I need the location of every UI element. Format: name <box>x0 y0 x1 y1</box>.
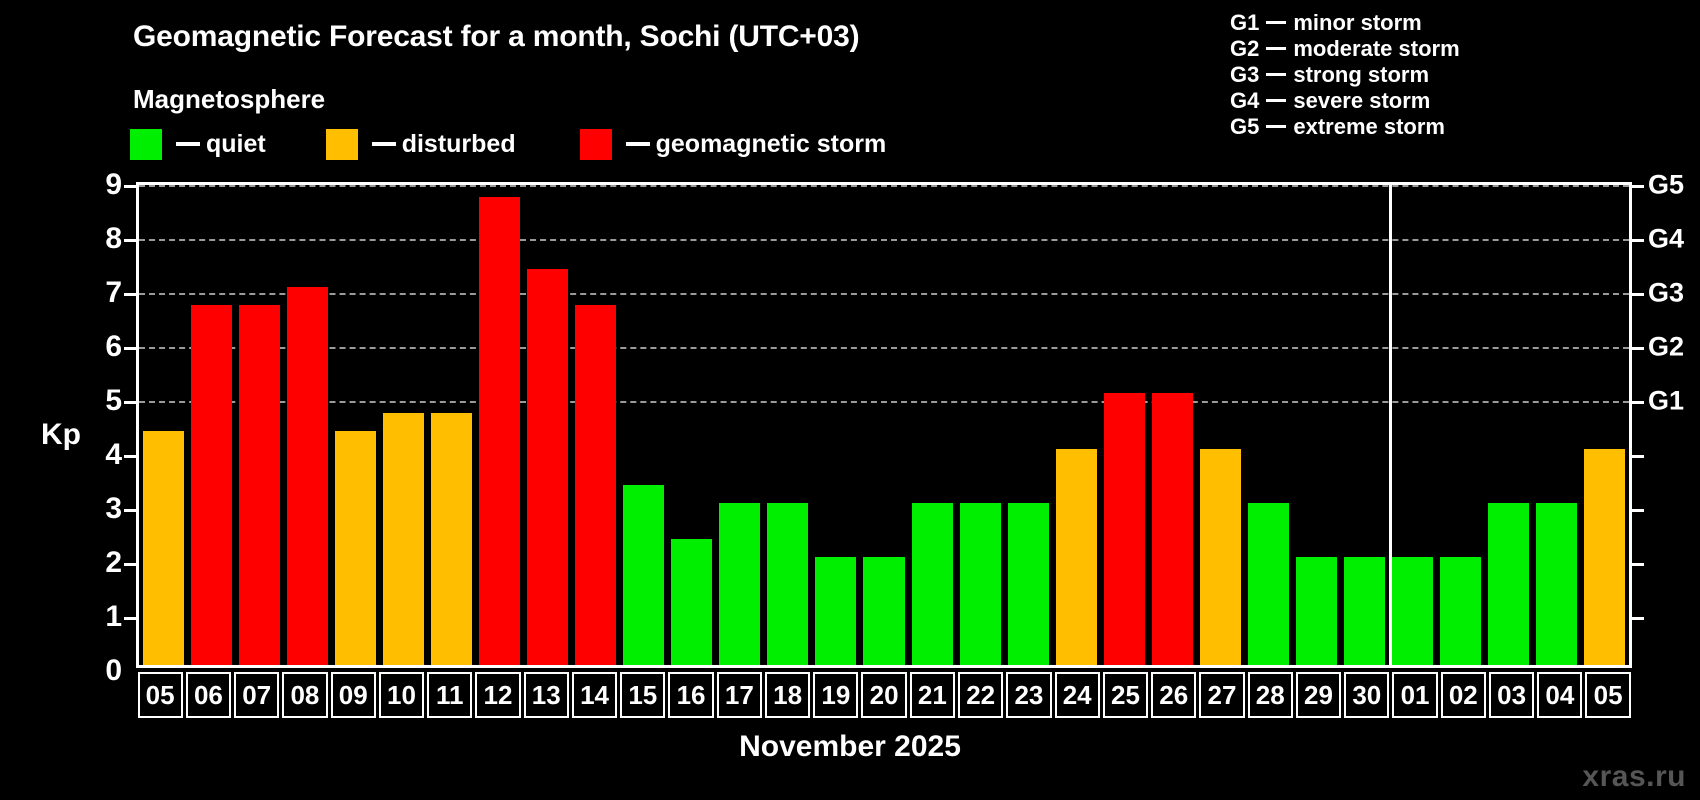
y-tick-label: 7 <box>82 276 122 310</box>
g-tick-label: G1 <box>1648 386 1684 417</box>
y-tick-mark <box>124 509 136 512</box>
bar-cell[interactable] <box>1533 185 1581 665</box>
bar-storm[interactable] <box>191 305 232 665</box>
y-tick-mark <box>124 563 136 566</box>
watermark: xras.ru <box>1582 760 1686 794</box>
bar-cell[interactable] <box>1004 185 1052 665</box>
bar-cell[interactable] <box>1196 185 1244 665</box>
bar-cell[interactable] <box>668 185 716 665</box>
g-minor-tick-mark <box>1632 563 1644 566</box>
g-tick-label: G3 <box>1648 278 1684 309</box>
y-tick-mark <box>124 401 136 404</box>
day-label-cell[interactable]: 11 <box>427 672 472 718</box>
g-tick-mark <box>1632 401 1644 404</box>
bar-quiet[interactable] <box>719 503 760 665</box>
bar-quiet[interactable] <box>767 503 808 665</box>
plot-frame <box>136 182 1632 668</box>
bar-storm[interactable] <box>479 197 520 665</box>
bar-series <box>139 185 1629 665</box>
geomagnetic-forecast-chart: Geomagnetic Forecast for a month, Sochi … <box>0 0 1700 800</box>
day-label-cell[interactable]: 01 <box>1392 672 1437 718</box>
y-tick-label: 8 <box>82 222 122 256</box>
bar-cell[interactable] <box>1341 185 1389 665</box>
bar-cell[interactable] <box>1485 185 1533 665</box>
bar-storm[interactable] <box>1104 393 1145 665</box>
bar-quiet[interactable] <box>1008 503 1049 665</box>
bar-quiet[interactable] <box>1248 503 1289 665</box>
bar-quiet[interactable] <box>623 485 664 665</box>
bar-cell[interactable] <box>1052 185 1100 665</box>
bar-storm[interactable] <box>239 305 280 665</box>
day-label-cell[interactable]: 13 <box>524 672 569 718</box>
g-tick-mark <box>1632 185 1644 188</box>
day-label-cell[interactable]: 15 <box>620 672 665 718</box>
y-tick-label: 4 <box>82 438 122 472</box>
bar-cell[interactable] <box>716 185 764 665</box>
bar-disturbed[interactable] <box>143 431 184 665</box>
bar-cell[interactable] <box>1437 185 1485 665</box>
bar-quiet[interactable] <box>960 503 1001 665</box>
g-minor-tick-mark <box>1632 617 1644 620</box>
y-tick-label: 1 <box>82 600 122 634</box>
bar-storm[interactable] <box>1152 393 1193 665</box>
day-label-cell[interactable]: 18 <box>765 672 810 718</box>
y-tick-label: 6 <box>82 330 122 364</box>
month-boundary-marker <box>1389 185 1392 665</box>
bar-cell[interactable] <box>1148 185 1196 665</box>
day-label-cell[interactable]: 03 <box>1489 672 1534 718</box>
bar-cell[interactable] <box>283 185 331 665</box>
bar-disturbed[interactable] <box>1584 449 1625 665</box>
day-label-cell[interactable]: 08 <box>282 672 327 718</box>
bar-cell[interactable] <box>331 185 379 665</box>
bar-cell[interactable] <box>1581 185 1629 665</box>
day-label-cell[interactable]: 04 <box>1537 672 1582 718</box>
day-label-cell[interactable]: 26 <box>1151 672 1196 718</box>
bar-cell[interactable] <box>1100 185 1148 665</box>
day-label-cell[interactable]: 17 <box>717 672 762 718</box>
y-tick-label: 5 <box>82 384 122 418</box>
bar-quiet[interactable] <box>815 557 856 665</box>
bar-cell[interactable] <box>379 185 427 665</box>
bar-storm[interactable] <box>527 269 568 665</box>
bar-disturbed[interactable] <box>431 413 472 665</box>
y-tick-mark <box>124 293 136 296</box>
y-tick-mark <box>124 455 136 458</box>
bar-cell[interactable] <box>139 185 187 665</box>
bar-cell[interactable] <box>908 185 956 665</box>
g-tick-mark <box>1632 347 1644 350</box>
day-label-cell[interactable]: 29 <box>1296 672 1341 718</box>
bar-quiet[interactable] <box>1392 557 1433 665</box>
bar-disturbed[interactable] <box>1200 449 1241 665</box>
day-label-cell[interactable]: 10 <box>379 672 424 718</box>
bar-quiet[interactable] <box>1440 557 1481 665</box>
bar-cell[interactable] <box>1293 185 1341 665</box>
bar-quiet[interactable] <box>1296 557 1337 665</box>
bar-cell[interactable] <box>860 185 908 665</box>
x-axis-title: November 2025 <box>0 730 1700 764</box>
x-axis-day-labels: 0506070809101112131415161718192021222324… <box>136 672 1632 718</box>
y-axis-title: Kp <box>41 418 81 452</box>
g-tick-label: G5 <box>1648 170 1684 201</box>
y-tick-mark <box>124 617 136 620</box>
bar-cell[interactable] <box>812 185 860 665</box>
bar-quiet[interactable] <box>1488 503 1529 665</box>
day-label-cell[interactable]: 06 <box>186 672 231 718</box>
bar-disturbed[interactable] <box>383 413 424 665</box>
day-label-cell[interactable]: 21 <box>910 672 955 718</box>
y-tick-label: 3 <box>82 492 122 526</box>
day-label-cell[interactable]: 12 <box>475 672 520 718</box>
day-label-cell[interactable]: 27 <box>1199 672 1244 718</box>
day-label-cell[interactable]: 09 <box>331 672 376 718</box>
day-label-cell[interactable]: 22 <box>958 672 1003 718</box>
g-minor-tick-mark <box>1632 509 1644 512</box>
day-label-cell[interactable]: 19 <box>813 672 858 718</box>
g-tick-mark <box>1632 293 1644 296</box>
day-label-cell[interactable]: 23 <box>1006 672 1051 718</box>
bar-cell[interactable] <box>1244 185 1292 665</box>
bar-cell[interactable] <box>235 185 283 665</box>
bar-quiet[interactable] <box>1344 557 1385 665</box>
bar-cell[interactable] <box>427 185 475 665</box>
g-tick-label: G4 <box>1648 224 1684 255</box>
bar-storm[interactable] <box>287 287 328 665</box>
bar-storm[interactable] <box>575 305 616 665</box>
bar-quiet[interactable] <box>912 503 953 665</box>
day-label-cell[interactable]: 05 <box>1585 672 1630 718</box>
y-tick-mark <box>124 239 136 242</box>
day-label-cell[interactable]: 25 <box>1103 672 1148 718</box>
plot-wrapper: Kp 0506070809101112131415161718192021222… <box>0 0 1700 800</box>
day-label-cell[interactable]: 24 <box>1055 672 1100 718</box>
g-minor-tick-mark <box>1632 455 1644 458</box>
bar-cell[interactable] <box>187 185 235 665</box>
day-label-cell[interactable]: 07 <box>234 672 279 718</box>
day-label-cell[interactable]: 30 <box>1344 672 1389 718</box>
day-label-cell[interactable]: 28 <box>1248 672 1293 718</box>
bar-quiet[interactable] <box>1536 503 1577 665</box>
bar-disturbed[interactable] <box>1056 449 1097 665</box>
bar-cell[interactable] <box>620 185 668 665</box>
day-label-cell[interactable]: 16 <box>668 672 713 718</box>
y-tick-mark <box>124 347 136 350</box>
y-tick-mark <box>124 185 136 188</box>
y-tick-label: 2 <box>82 546 122 580</box>
day-label-cell[interactable]: 20 <box>861 672 906 718</box>
day-label-cell[interactable]: 05 <box>138 672 183 718</box>
bar-cell[interactable] <box>764 185 812 665</box>
bar-cell[interactable] <box>572 185 620 665</box>
bar-disturbed[interactable] <box>335 431 376 665</box>
bar-cell[interactable] <box>475 185 523 665</box>
day-label-cell[interactable]: 14 <box>572 672 617 718</box>
g-tick-label: G2 <box>1648 332 1684 363</box>
bar-quiet[interactable] <box>863 557 904 665</box>
y-tick-label: 0 <box>82 654 122 688</box>
plot-inner <box>139 185 1629 665</box>
bar-cell[interactable] <box>1389 185 1437 665</box>
bar-cell[interactable] <box>956 185 1004 665</box>
bar-quiet[interactable] <box>671 539 712 665</box>
bar-cell[interactable] <box>524 185 572 665</box>
day-label-cell[interactable]: 02 <box>1441 672 1486 718</box>
g-tick-mark <box>1632 239 1644 242</box>
y-tick-label: 9 <box>82 168 122 202</box>
